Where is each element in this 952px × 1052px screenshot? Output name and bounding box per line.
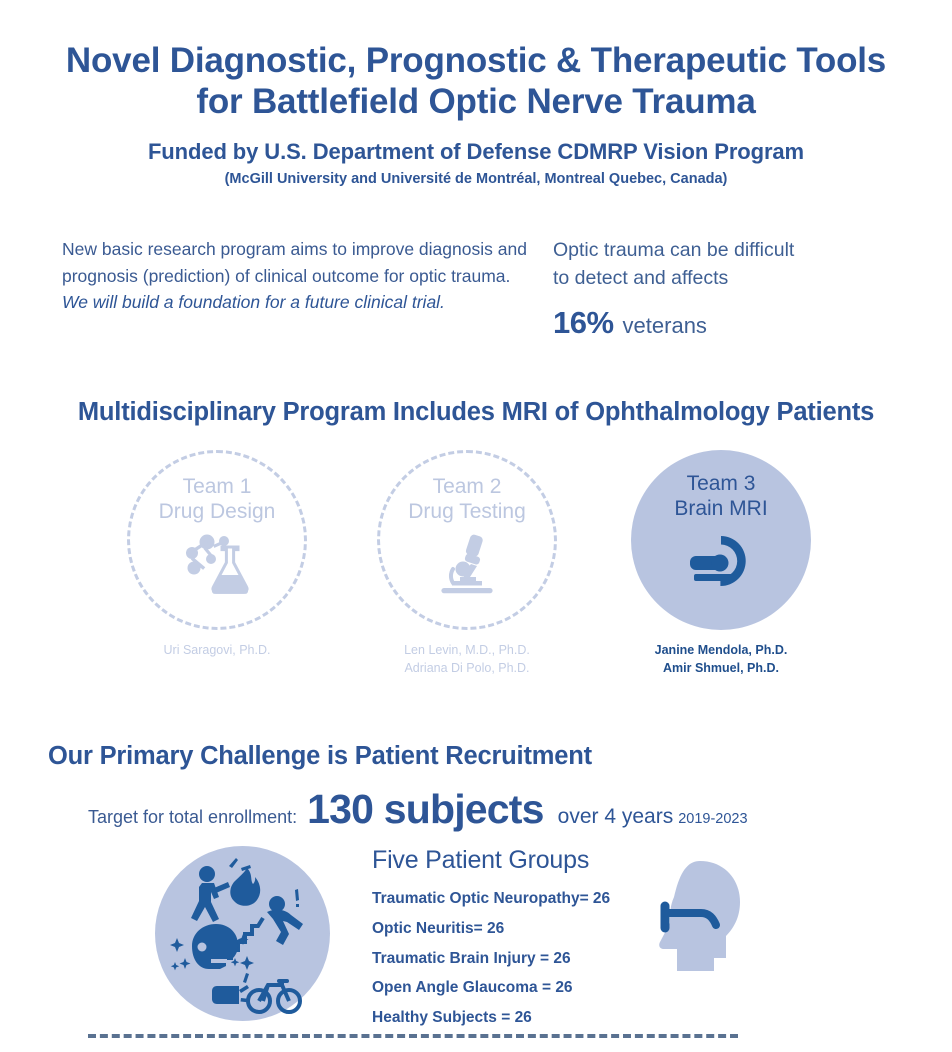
team-card-3: Team 3 Brain MRI Janine Mendola, Ph.D. A… bbox=[596, 450, 846, 678]
patient-groups-title: Five Patient Groups bbox=[372, 846, 610, 875]
affiliation-line: (McGill University and Université de Mon… bbox=[0, 171, 952, 187]
patient-group-item: Traumatic Optic Neuropathy= 26 bbox=[372, 884, 610, 914]
intro-row: New basic research program aims to impro… bbox=[0, 236, 952, 345]
veteran-percent-label: veterans bbox=[623, 310, 707, 342]
team-card-1: Team 1 Drug Design Uri Sarago bbox=[92, 450, 342, 678]
title-block: Novel Diagnostic, Prognostic & Therapeut… bbox=[0, 0, 952, 187]
team-2-member-2: Adriana Di Polo, Ph.D. bbox=[342, 660, 592, 678]
intro-left-line-1: New basic research program aims to impro… bbox=[62, 236, 545, 263]
team-3-number: Team 3 bbox=[687, 472, 756, 497]
teams-row: Team 1 Drug Design Uri Sarago bbox=[0, 450, 952, 678]
intro-right-paragraph: Optic trauma can be difficult to detect … bbox=[545, 236, 885, 345]
section-heading-multidisciplinary-program: Multidisciplinary Program Includes MRI o… bbox=[0, 398, 952, 427]
team-2-number: Team 2 bbox=[433, 475, 502, 500]
enrollment-target-row: Target for total enrollment: 130 subject… bbox=[88, 786, 748, 833]
head-optic-nerve-wrapper bbox=[640, 858, 744, 993]
funding-line: Funded by U.S. Department of Defense CDM… bbox=[0, 139, 952, 165]
molecule-flask-icon bbox=[180, 533, 254, 595]
intro-left-paragraph: New basic research program aims to impro… bbox=[0, 236, 545, 316]
team-2-member-1: Len Levin, M.D., Ph.D. bbox=[342, 642, 592, 660]
enrollment-label: Target for total enrollment: bbox=[88, 807, 297, 828]
team-1-members: Uri Saragovi, Ph.D. bbox=[92, 642, 342, 660]
patient-group-item: Open Angle Glaucoma = 26 bbox=[372, 973, 610, 1003]
patient-groups-list-block: Five Patient Groups Traumatic Optic Neur… bbox=[372, 846, 610, 1033]
injury-causes-circle bbox=[155, 846, 330, 1021]
page-title-line-1: Novel Diagnostic, Prognostic & Therapeut… bbox=[30, 40, 922, 81]
bottom-divider bbox=[88, 1034, 738, 1038]
team-1-focus: Drug Design bbox=[159, 500, 276, 525]
team-1-circle: Team 1 Drug Design bbox=[127, 450, 307, 630]
page-title-line-2: for Battlefield Optic Nerve Trauma bbox=[30, 81, 922, 122]
mri-scanner-icon bbox=[684, 530, 758, 592]
enrollment-count: 130 subjects bbox=[307, 786, 544, 833]
team-3-member-1: Janine Mendola, Ph.D. bbox=[596, 642, 846, 660]
patient-groups-row: Five Patient Groups Traumatic Optic Neur… bbox=[0, 846, 952, 1033]
enrollment-duration: over 4 years bbox=[558, 805, 674, 829]
injury-causes-icon bbox=[155, 846, 330, 1021]
page-title: Novel Diagnostic, Prognostic & Therapeut… bbox=[0, 40, 952, 123]
patient-group-item: Healthy Subjects = 26 bbox=[372, 1003, 610, 1033]
intro-left-line-2: prognosis (prediction) of clinical outco… bbox=[62, 263, 545, 290]
intro-left-emphasis: We will build a foundation for a future … bbox=[62, 289, 545, 316]
microscope-icon bbox=[430, 533, 504, 595]
section-heading-recruitment: Our Primary Challenge is Patient Recruit… bbox=[48, 742, 592, 771]
team-card-2: Team 2 Drug Testing Len Levin, M.D., Ph.… bbox=[342, 450, 592, 678]
team-3-circle: Team 3 Brain MRI bbox=[631, 450, 811, 630]
team-3-members: Janine Mendola, Ph.D. Amir Shmuel, Ph.D. bbox=[596, 642, 846, 678]
intro-right-line-2: to detect and affects bbox=[553, 264, 885, 292]
patient-group-item: Traumatic Brain Injury = 26 bbox=[372, 944, 610, 974]
intro-right-line-1: Optic trauma can be difficult bbox=[553, 236, 885, 264]
team-3-focus: Brain MRI bbox=[674, 497, 767, 522]
team-1-member-1: Uri Saragovi, Ph.D. bbox=[92, 642, 342, 660]
team-1-number: Team 1 bbox=[183, 475, 252, 500]
team-2-focus: Drug Testing bbox=[408, 500, 526, 525]
patient-group-item: Optic Neuritis= 26 bbox=[372, 914, 610, 944]
veteran-statistic: 16% veterans bbox=[553, 301, 885, 346]
enrollment-year-range: 2019-2023 bbox=[678, 811, 747, 827]
veteran-percent-value: 16% bbox=[553, 301, 614, 346]
head-optic-nerve-icon bbox=[640, 858, 744, 988]
team-2-members: Len Levin, M.D., Ph.D. Adriana Di Polo, … bbox=[342, 642, 592, 678]
team-3-member-2: Amir Shmuel, Ph.D. bbox=[596, 660, 846, 678]
team-2-circle: Team 2 Drug Testing bbox=[377, 450, 557, 630]
